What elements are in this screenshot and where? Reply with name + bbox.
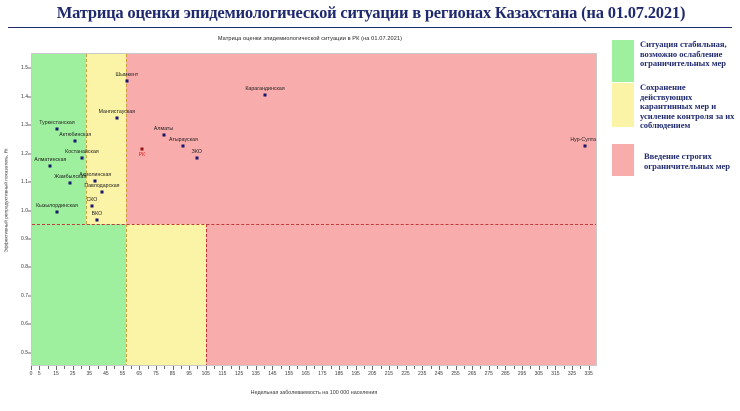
zone-yellow-lower	[126, 224, 206, 366]
x-tick-label: 85	[170, 371, 176, 377]
x-tick-label: 325	[568, 371, 576, 377]
data-point[interactable]	[140, 148, 143, 151]
x-minor-tick	[364, 366, 365, 369]
data-point-label: Атырауская	[169, 137, 198, 143]
x-tick-label: 5	[38, 371, 41, 377]
x-tick-label: 335	[585, 371, 593, 377]
legend: Ситуация стабильная, возможно ослабление…	[612, 40, 738, 177]
x-tick-label: 15	[53, 371, 59, 377]
x-minor-tick	[98, 366, 99, 369]
x-tick-mark	[222, 366, 223, 370]
x-minor-tick	[331, 366, 332, 369]
x-axis: 0515253545556575859510511512513514515516…	[31, 366, 597, 386]
x-tick-label: 115	[218, 371, 226, 377]
x-minor-tick	[514, 366, 515, 369]
legend-swatch-pink-icon	[612, 144, 634, 176]
x-minor-tick	[214, 366, 215, 369]
x-minor-tick	[247, 366, 248, 369]
x-minor-tick	[264, 366, 265, 369]
zone-pink-lower	[206, 224, 597, 366]
data-point[interactable]	[90, 205, 93, 208]
threshold-line-rt1	[32, 224, 597, 225]
x-tick-mark	[89, 366, 90, 370]
x-tick-label: 55	[120, 371, 126, 377]
y-tick-label: 0.6	[21, 321, 28, 327]
legend-label-green: Ситуация стабильная, возможно ослабление…	[640, 40, 738, 69]
legend-item-yellow: Сохранение действующих карантинных мер и…	[612, 83, 738, 131]
x-minor-tick	[381, 366, 382, 369]
x-tick-mark	[56, 366, 57, 370]
x-tick-label: 205	[368, 371, 376, 377]
x-tick-mark	[73, 366, 74, 370]
data-point[interactable]	[49, 165, 52, 168]
x-tick-mark	[322, 366, 323, 370]
data-point[interactable]	[195, 156, 198, 159]
data-point[interactable]	[94, 179, 97, 182]
data-point[interactable]	[55, 128, 58, 131]
data-point-label: Туркестанская	[39, 120, 75, 126]
y-tick-label: 0.5	[21, 350, 28, 356]
x-minor-tick	[447, 366, 448, 369]
legend-item-pink: Введение строгих ограничительных мер	[612, 132, 738, 176]
data-point[interactable]	[583, 145, 586, 148]
legend-item-green: Ситуация стабильная, возможно ослабление…	[612, 40, 738, 82]
data-point[interactable]	[95, 219, 98, 222]
y-tick-label: 1.1	[21, 179, 28, 185]
x-tick-label: 265	[468, 371, 476, 377]
x-tick-label: 135	[252, 371, 260, 377]
x-tick-mark	[339, 366, 340, 370]
y-tick-label: 1.4	[21, 94, 28, 100]
x-tick-label: 45	[103, 371, 109, 377]
x-tick-label: 155	[285, 371, 293, 377]
data-point[interactable]	[264, 94, 267, 97]
y-axis: Эффективный репродуктивный показатель, R…	[0, 53, 31, 368]
y-tick-label: 1.2	[21, 151, 28, 157]
x-tick-label: 215	[385, 371, 393, 377]
x-minor-tick	[431, 366, 432, 369]
data-point-label: СКО	[86, 197, 97, 203]
y-tick-label: 0.8	[21, 264, 28, 270]
data-point[interactable]	[69, 182, 72, 185]
x-tick-mark	[173, 366, 174, 370]
x-tick-mark	[256, 366, 257, 370]
x-minor-tick	[131, 366, 132, 369]
x-minor-tick	[347, 366, 348, 369]
x-minor-tick	[281, 366, 282, 369]
x-tick-label: 225	[401, 371, 409, 377]
x-minor-tick	[231, 366, 232, 369]
x-tick-mark	[372, 366, 373, 370]
x-tick-mark	[472, 366, 473, 370]
x-tick-mark	[505, 366, 506, 370]
scatter-plot: ШымкентКарагандинскаяМангистаускаяТуркес…	[31, 53, 597, 366]
y-tick-label: 1.5	[21, 65, 28, 71]
x-tick-label: 195	[351, 371, 359, 377]
data-point[interactable]	[80, 156, 83, 159]
x-tick-mark	[406, 366, 407, 370]
y-axis-title: Эффективный репродуктивный показатель, R…	[5, 141, 10, 261]
legend-label-pink: Введение строгих ограничительных мер	[640, 132, 738, 171]
data-point-label: Нур-Султан	[570, 137, 597, 143]
screenshot-root: Матрица оценки эпидемиологической ситуац…	[0, 0, 740, 411]
x-tick-mark	[289, 366, 290, 370]
x-tick-mark	[422, 366, 423, 370]
legend-label-yellow: Сохранение действующих карантинных мер и…	[640, 83, 738, 131]
x-tick-mark	[123, 366, 124, 370]
data-point-label: Кызылординская	[36, 203, 78, 209]
y-tick-label: 1.3	[21, 122, 28, 128]
legend-swatch-yellow-icon	[612, 83, 634, 127]
data-point-label: ЗКО	[192, 149, 202, 155]
x-tick-label: 145	[268, 371, 276, 377]
x-tick-mark	[31, 366, 32, 370]
x-tick-mark	[239, 366, 240, 370]
x-tick-label: 165	[302, 371, 310, 377]
threshold-line-x50	[126, 54, 127, 366]
x-minor-tick	[197, 366, 198, 369]
x-tick-label: 175	[318, 371, 326, 377]
data-point-label: Алматы	[154, 126, 173, 132]
x-tick-label: 305	[535, 371, 543, 377]
data-point[interactable]	[115, 117, 118, 120]
x-axis-title: Недельная заболеваемость на 100 000 насе…	[31, 390, 597, 396]
data-point-label: ВКО	[92, 211, 103, 217]
x-tick-mark	[589, 366, 590, 370]
zone-green-lower	[32, 224, 126, 366]
x-tick-mark	[439, 366, 440, 370]
x-tick-label: 25	[70, 371, 76, 377]
x-minor-tick	[480, 366, 481, 369]
x-tick-mark	[189, 366, 190, 370]
x-tick-mark	[389, 366, 390, 370]
x-tick-label: 235	[418, 371, 426, 377]
x-tick-mark	[106, 366, 107, 370]
legend-swatch-green-icon	[612, 40, 634, 82]
x-tick-mark	[206, 366, 207, 370]
data-point-label: Мангистауская	[99, 109, 136, 115]
page-header: Матрица оценки эпидемиологической ситуац…	[0, 0, 740, 30]
x-tick-label: 35	[86, 371, 92, 377]
x-tick-label: 105	[202, 371, 210, 377]
x-minor-tick	[580, 366, 581, 369]
data-point-label: Карагандинская	[245, 86, 284, 92]
data-point[interactable]	[74, 139, 77, 142]
x-minor-tick	[414, 366, 415, 369]
y-tick-label: 0.7	[21, 293, 28, 299]
x-tick-label: 285	[501, 371, 509, 377]
data-point-label: Шымкент	[115, 72, 138, 78]
x-tick-mark	[306, 366, 307, 370]
zone-green-upper	[32, 54, 86, 224]
x-tick-label: 255	[451, 371, 459, 377]
x-tick-mark	[572, 366, 573, 370]
x-tick-mark	[139, 366, 140, 370]
x-tick-label: 295	[518, 371, 526, 377]
x-minor-tick	[181, 366, 182, 369]
x-minor-tick	[547, 366, 548, 369]
x-tick-label: 245	[435, 371, 443, 377]
x-minor-tick	[81, 366, 82, 369]
x-tick-label: 125	[235, 371, 243, 377]
title-divider	[8, 27, 732, 28]
chart-title: Матрица оценки эпидемиологической ситуац…	[160, 36, 460, 42]
x-minor-tick	[48, 366, 49, 369]
x-minor-tick	[314, 366, 315, 369]
data-point-label: РК	[139, 152, 146, 158]
x-tick-mark	[356, 366, 357, 370]
y-tick-label: 1.0	[21, 208, 28, 214]
x-minor-tick	[164, 366, 165, 369]
x-tick-label: 65	[136, 371, 142, 377]
x-tick-mark	[489, 366, 490, 370]
data-point-label: Актюбинская	[59, 132, 91, 138]
threshold-line-x100	[206, 224, 207, 366]
x-tick-label: 275	[485, 371, 493, 377]
data-point[interactable]	[125, 80, 128, 83]
x-tick-mark	[156, 366, 157, 370]
y-tick-label: 0.9	[21, 236, 28, 242]
x-tick-mark	[272, 366, 273, 370]
x-minor-tick	[297, 366, 298, 369]
data-point[interactable]	[162, 134, 165, 137]
data-point-label: Алматинская	[34, 157, 66, 163]
x-minor-tick	[64, 366, 65, 369]
x-tick-mark	[522, 366, 523, 370]
x-tick-label: 75	[153, 371, 159, 377]
x-minor-tick	[397, 366, 398, 369]
page-title: Матрица оценки эпидемиологической ситуац…	[8, 3, 734, 23]
x-minor-tick	[148, 366, 149, 369]
data-point[interactable]	[55, 210, 58, 213]
x-minor-tick	[114, 366, 115, 369]
x-minor-tick	[497, 366, 498, 369]
data-point[interactable]	[182, 145, 185, 148]
data-point-label: Павлодарская	[84, 183, 119, 189]
x-tick-mark	[555, 366, 556, 370]
data-point[interactable]	[100, 191, 103, 194]
data-point-label: Костанайская	[65, 149, 99, 155]
x-minor-tick	[464, 366, 465, 369]
x-tick-label: 0	[30, 371, 33, 377]
x-minor-tick	[564, 366, 565, 369]
x-tick-mark	[539, 366, 540, 370]
x-tick-label: 95	[186, 371, 192, 377]
x-tick-label: 185	[335, 371, 343, 377]
x-minor-tick	[530, 366, 531, 369]
x-tick-mark	[39, 366, 40, 370]
data-point-label: Акмолинская	[79, 172, 111, 178]
x-tick-mark	[456, 366, 457, 370]
x-tick-label: 315	[551, 371, 559, 377]
